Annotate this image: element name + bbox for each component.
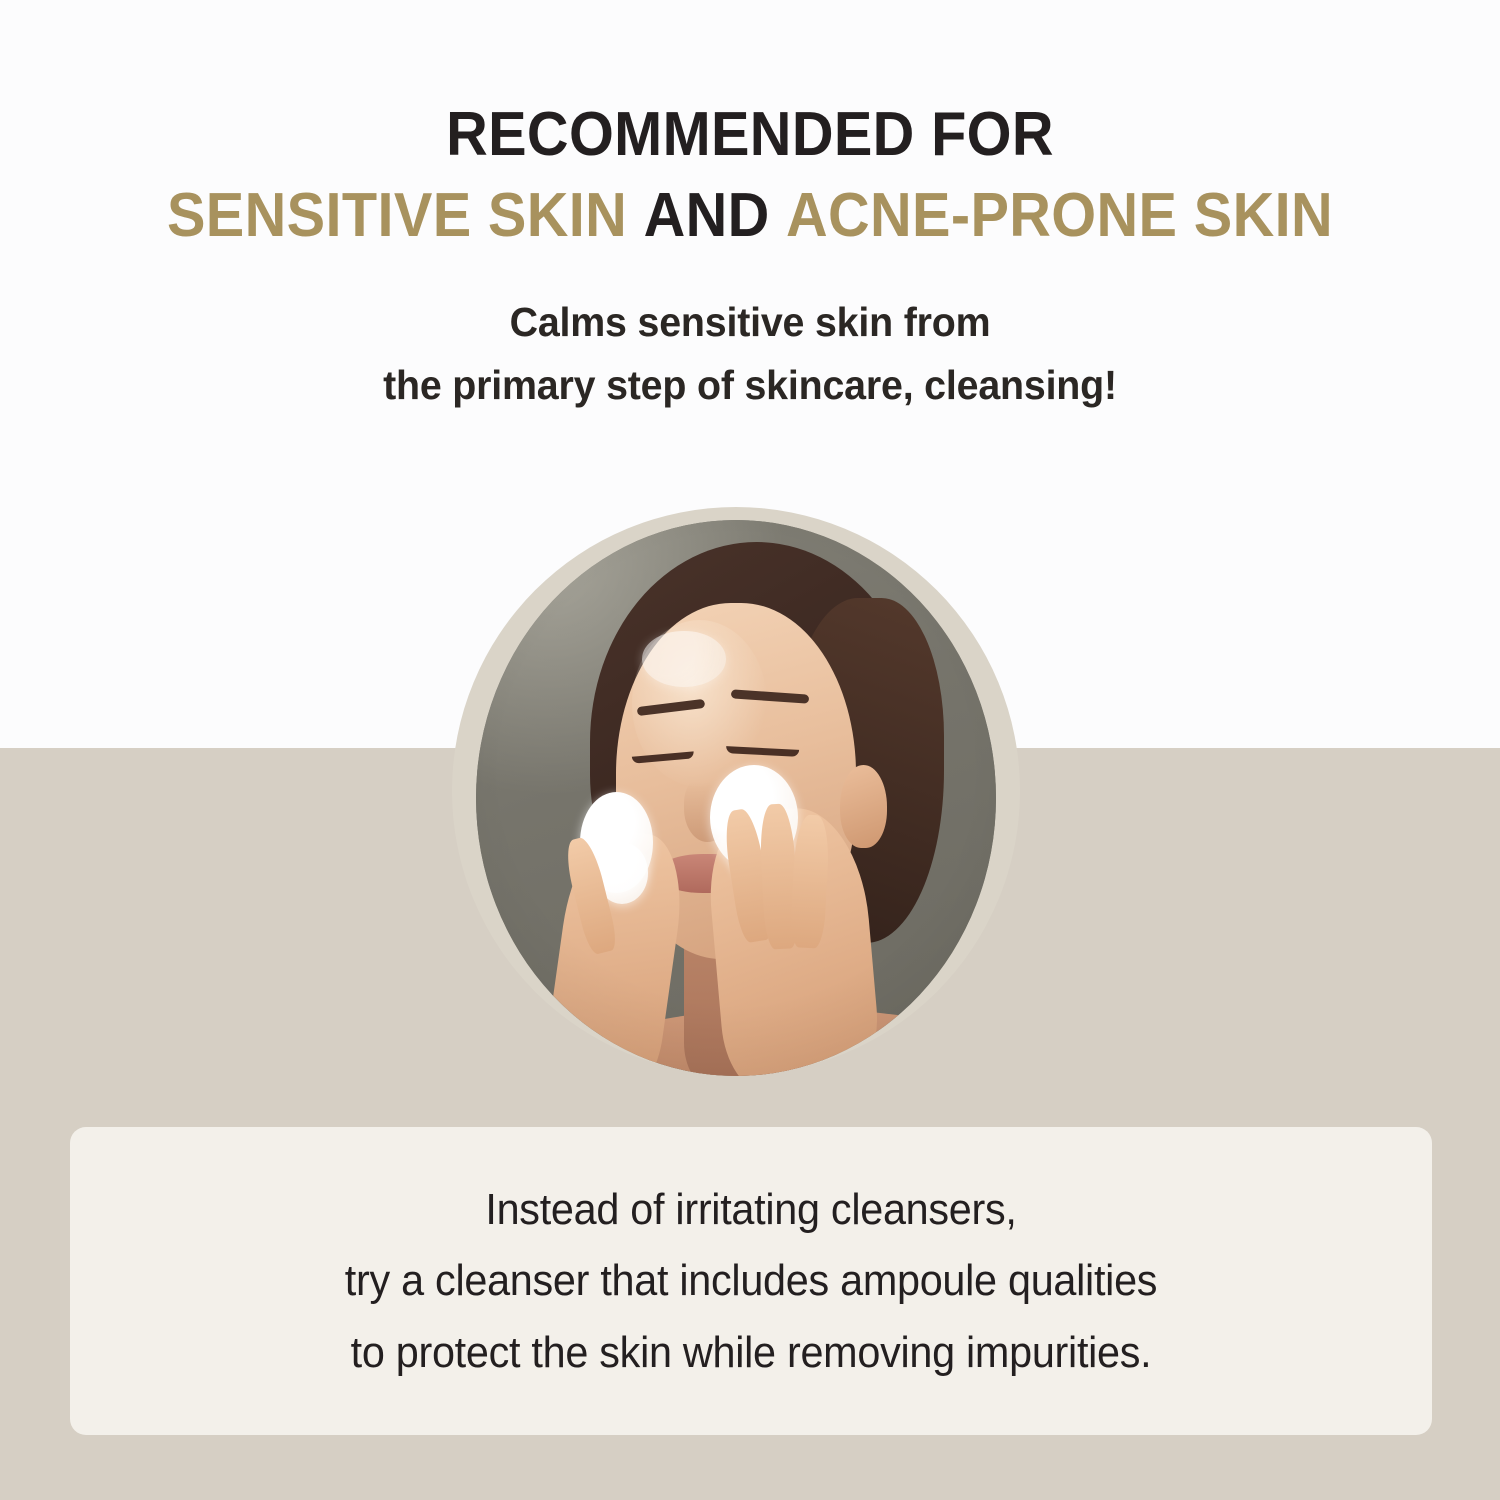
- headline-acne-prone-skin: ACNE-PRONE SKIN: [786, 181, 1333, 250]
- subheading-block: Calms sensitive skin from the primary st…: [30, 291, 1470, 416]
- headline-line-1: RECOMMENDED FOR: [53, 103, 1448, 166]
- promo-poster: RECOMMENDED FOR SENSITIVE SKIN AND ACNE-…: [0, 0, 1500, 1500]
- headline-block: RECOMMENDED FOR SENSITIVE SKIN AND ACNE-…: [0, 0, 1500, 416]
- info-card-text: Instead of irritating cleansers, try a c…: [111, 1174, 1391, 1388]
- info-card-line-2: try a cleanser that includes ampoule qua…: [111, 1245, 1391, 1316]
- info-card-line-3: to protect the skin while removing impur…: [111, 1317, 1391, 1388]
- hero-photo-container: [452, 507, 1020, 1075]
- info-card: Instead of irritating cleansers, try a c…: [70, 1127, 1432, 1435]
- headline-sensitive-skin: SENSITIVE SKIN: [167, 181, 627, 250]
- headline-line-2: SENSITIVE SKIN AND ACNE-PRONE SKIN: [53, 184, 1448, 247]
- hero-photo-woman-washing-face: [476, 520, 996, 1076]
- subheading-line-2: the primary step of skincare, cleansing!: [30, 354, 1470, 416]
- headline-conjunction: AND: [644, 181, 770, 250]
- photo-vignette: [476, 520, 996, 1076]
- info-card-line-1: Instead of irritating cleansers,: [111, 1174, 1391, 1245]
- subheading-line-1: Calms sensitive skin from: [30, 291, 1470, 353]
